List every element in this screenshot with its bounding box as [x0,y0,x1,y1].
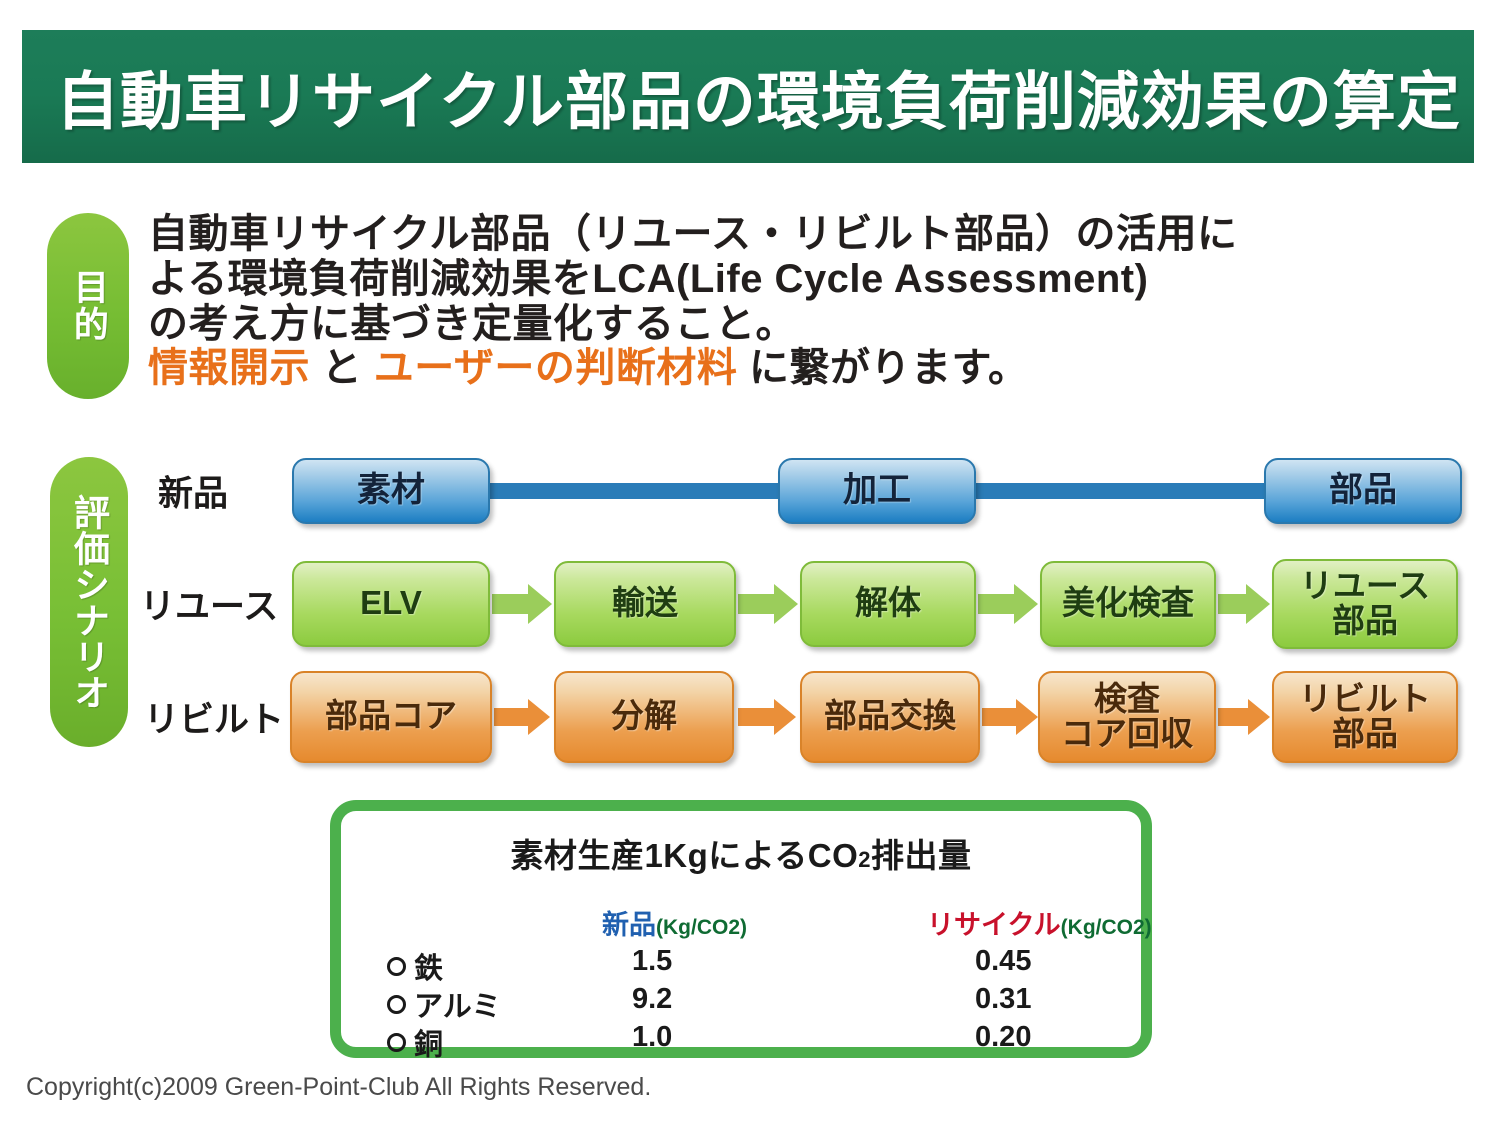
arrow-shaft [480,483,798,499]
arrow-shaft [738,708,776,726]
flow-row-new: 新品 素材 加工 部品 [140,434,1470,547]
table-row: 銅 1.0 0.20 [387,1021,1111,1059]
arrow-head [774,584,798,624]
flow-node-material[interactable]: 素材 [292,458,490,524]
flow-arrow-new-2 [966,478,1310,504]
flow-arrow-reuse-1 [492,589,552,619]
co2-table: 新品(Kg/CO2) リサイクル(Kg/CO2) 鉄 1.5 0.45 アルミ … [387,903,1111,1059]
purpose-line-2: よる環境負荷削減効果をLCA(Life Cycle Assessment) [148,257,1478,302]
flow-node-processing[interactable]: 加工 [778,458,976,524]
co2-value-recycled-copper: 0.20 [975,1021,1031,1054]
flow-arrow-reuse-3 [978,589,1038,619]
co2-title-after: 排出量 [871,837,972,874]
co2-table-title: 素材生産1KgによるCO2排出量 [341,829,1141,877]
flow-node-inspection[interactable]: 美化検査 [1040,561,1216,647]
circle-bullet-icon [387,957,406,976]
co2-value-new-copper: 1.0 [632,1021,672,1054]
flow-row-label-reuse: リユース [140,578,278,629]
arrow-shaft [1218,708,1250,726]
flow-arrow-new-1 [480,478,824,504]
arrow-head [1016,699,1038,735]
purpose-line-3: の考え方に基づき定量化すること。 [148,302,1478,347]
co2-row-material-aluminum: アルミ [387,983,501,1025]
arrow-shaft [738,594,776,614]
co2-row-material-copper: 銅 [387,1021,443,1063]
table-row: 鉄 1.5 0.45 [387,945,1111,983]
arrow-head [1246,584,1270,624]
co2-header-new-label: 新品 [602,910,656,940]
flow-row-reuse: リユース ELV 輸送 解体 美化検査 リユース 部品 [140,547,1470,660]
co2-material-label: 銅 [414,1029,443,1061]
flow-node-rebuilt-part[interactable]: リビルト 部品 [1272,671,1458,763]
flow-diagram: 新品 素材 加工 部品 リユース ELV 輸 [140,434,1470,773]
arrow-shaft [492,594,530,614]
co2-value-new-aluminum: 9.2 [632,983,672,1016]
page-title: 自動車リサイクル部品の環境負荷削減効果の算定 [56,51,1461,142]
arrow-head [1248,699,1270,735]
flow-node-part-replacement[interactable]: 部品交換 [800,671,980,763]
circle-bullet-icon [387,1033,406,1052]
flow-arrow-reuse-2 [738,589,798,619]
co2-value-recycled-iron: 0.45 [975,945,1031,978]
arrow-shaft [982,708,1018,726]
co2-title-before: 素材生産1KgによるCO [510,837,858,874]
flow-node-inspect-core-recovery[interactable]: 検査 コア回収 [1038,671,1216,763]
scenario-pill-label: 評価シナリオ [71,494,107,710]
copyright-footer: Copyright(c)2009 Green-Point-Club All Ri… [26,1073,651,1102]
co2-material-label: 鉄 [414,953,443,985]
flow-row-label-new: 新品 [158,465,228,516]
flow-row-label-rebuild: リビルト [144,691,284,742]
purpose-pill-label: 目的 [70,269,106,343]
co2-value-recycled-aluminum: 0.31 [975,983,1031,1016]
arrow-head [528,584,552,624]
purpose-line-4: 情報開示 と ユーザーの判断材料 に繋がります。 [148,346,1478,391]
arrow-shaft [494,708,530,726]
circle-bullet-icon [387,995,406,1014]
co2-header-new: 新品(Kg/CO2) [602,903,747,942]
flow-arrow-rebuild-3 [982,703,1038,731]
flow-node-dismantle[interactable]: 解体 [800,561,976,647]
purpose-highlight-2: ユーザーの判断材料 [374,346,738,390]
co2-title-subscript: 2 [858,847,871,872]
table-row: アルミ 9.2 0.31 [387,983,1111,1021]
scenario-pill: 評価シナリオ [50,457,128,747]
co2-row-material-iron: 鉄 [387,945,443,987]
co2-value-new-iron: 1.5 [632,945,672,978]
co2-table-header: 新品(Kg/CO2) リサイクル(Kg/CO2) [387,903,1111,945]
title-banner: 自動車リサイクル部品の環境負荷削減効果の算定 [22,30,1474,163]
co2-header-recycled-unit: (Kg/CO2) [1061,916,1152,939]
arrow-head [528,699,550,735]
flow-row-rebuild: リビルト 部品コア 分解 部品交換 検査 コア回収 リビルト 部品 [140,660,1470,773]
purpose-pill: 目的 [47,213,129,399]
flow-node-part[interactable]: 部品 [1264,458,1462,524]
flow-arrow-rebuild-2 [738,703,796,731]
flow-node-disassembly[interactable]: 分解 [554,671,734,763]
co2-data-panel: 素材生産1KgによるCO2排出量 新品(Kg/CO2) リサイクル(Kg/CO2… [330,800,1152,1058]
arrow-shaft [978,594,1016,614]
flow-node-reuse-part[interactable]: リユース 部品 [1272,559,1458,649]
purpose-line-1: 自動車リサイクル部品（リユース・リビルト部品）の活用に [148,212,1478,257]
flow-arrow-rebuild-1 [494,703,550,731]
arrow-head [1014,584,1038,624]
co2-header-recycled-label: リサイクル [927,910,1061,940]
purpose-tail: に繋がります。 [737,346,1028,390]
flow-node-elv[interactable]: ELV [292,561,490,647]
flow-arrow-rebuild-4 [1218,703,1270,731]
flow-arrow-reuse-4 [1218,589,1270,619]
co2-material-label: アルミ [414,991,501,1023]
flow-node-part-core[interactable]: 部品コア [290,671,492,763]
co2-header-new-unit: (Kg/CO2) [656,916,747,939]
purpose-text-block: 自動車リサイクル部品（リユース・リビルト部品）の活用に よる環境負荷削減効果をL… [148,212,1478,391]
purpose-conj: と [310,346,374,390]
flow-node-transport[interactable]: 輸送 [554,561,736,647]
arrow-head [774,699,796,735]
purpose-highlight-1: 情報開示 [148,346,310,390]
co2-header-recycled: リサイクル(Kg/CO2) [927,903,1152,942]
arrow-shaft [966,483,1284,499]
